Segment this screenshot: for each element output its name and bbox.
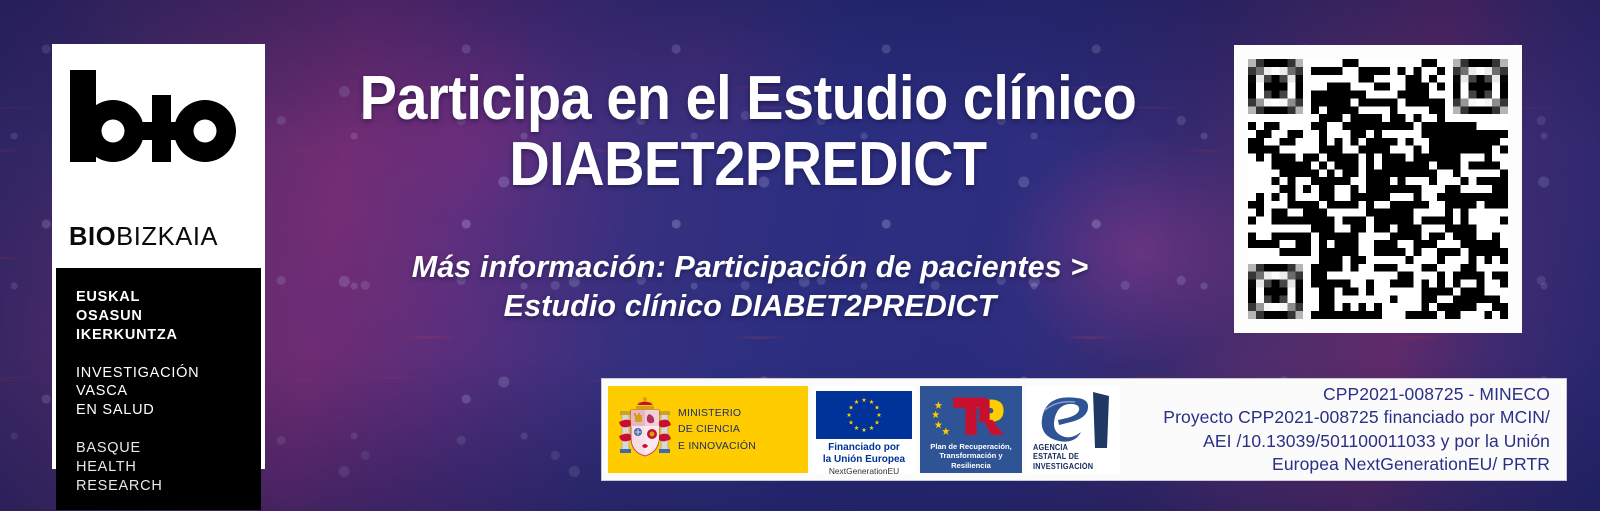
- prtr-caption-line-2: Transformación y: [930, 451, 1011, 460]
- logo-european-union-funding: Financiado por la Unión Europea NextGene…: [812, 386, 916, 473]
- funding-logos: MINISTERIO DE CIENCIA E INNOVACIÓN Finan…: [608, 386, 1120, 473]
- eu-caption-line-3: NextGenerationEU: [812, 466, 916, 477]
- tagline-english-line-1: BASQUE: [76, 439, 261, 458]
- tagline-basque-line-2: OSASUN: [76, 307, 261, 326]
- eu-flag-stars: [816, 391, 912, 439]
- logo-tagline-spanish: INVESTIGACIÓN VASCA EN SALUD: [76, 364, 261, 421]
- eu-caption-line-2: la Unión Europea: [812, 454, 916, 466]
- qr-code-icon[interactable]: [1248, 59, 1508, 319]
- tagline-basque-line-1: EUSKAL: [76, 288, 261, 307]
- tagline-basque-line-3: IKERKUNTZA: [76, 326, 261, 345]
- ministerio-line-2: DE CIENCIA: [678, 421, 756, 437]
- subheadline-line-1: Más información: Participación de pacien…: [300, 248, 1200, 287]
- aei-caption-line-1: AGENCIA: [1033, 443, 1093, 453]
- headline: Participa en el Estudio clínico DIABET2P…: [288, 66, 1208, 197]
- logo-plan-recuperacion: Plan de Recuperación, Transformación y R…: [920, 386, 1022, 473]
- spain-coat-of-arms-icon: [618, 396, 672, 464]
- aei-caption-line-2: ESTATAL DE: [1033, 452, 1093, 462]
- funding-text-line-2: Proyecto CPP2021-008725 financiado por M…: [1163, 406, 1550, 429]
- funding-text: CPP2021-008725 - MINECO Proyecto CPP2021…: [1120, 386, 1560, 473]
- funding-text-line-1: CPP2021-008725 - MINECO: [1323, 383, 1550, 406]
- tagline-spanish-line-3: EN SALUD: [76, 401, 261, 420]
- plan-recuperacion-tr-monogram-icon: [928, 392, 1014, 439]
- subheadline-line-2: Estudio clínico DIABET2PREDICT: [300, 287, 1200, 326]
- prtr-caption-line-3: Resiliencia: [930, 461, 1011, 470]
- tagline-spanish-line-1: INVESTIGACIÓN: [76, 364, 261, 383]
- ministerio-text: MINISTERIO DE CIENCIA E INNOVACIÓN: [678, 405, 756, 454]
- logo-wordmark-bizkaia: BIZKAIA: [116, 223, 218, 251]
- tagline-spanish-line-2: VASCA: [76, 382, 261, 401]
- logo-ministerio-ciencia-innovacion: MINISTERIO DE CIENCIA E INNOVACIÓN: [608, 386, 808, 473]
- subheadline: Más información: Participación de pacien…: [300, 248, 1200, 325]
- logo-wordmark: BIOBIZKAIA: [69, 223, 218, 252]
- promotional-banner: BIOBIZKAIA EUSKAL OSASUN IKERKUNTZA INVE…: [0, 0, 1600, 511]
- qr-code[interactable]: [1234, 45, 1522, 333]
- aei-caption-line-3: INVESTIGACIÓN: [1033, 462, 1093, 472]
- logo-agencia-estatal-investigacion: AGENCIA ESTATAL DE INVESTIGACIÓN: [1026, 386, 1120, 473]
- ministerio-line-1: MINISTERIO: [678, 405, 756, 421]
- ministerio-line-3: E INNOVACIÓN: [678, 438, 756, 454]
- tagline-english-line-3: RESEARCH: [76, 477, 261, 496]
- logo-tagline-english: BASQUE HEALTH RESEARCH: [76, 439, 261, 496]
- funding-strip: MINISTERIO DE CIENCIA E INNOVACIÓN Finan…: [601, 378, 1567, 481]
- biobizkaia-logo[interactable]: BIOBIZKAIA EUSKAL OSASUN IKERKUNTZA INVE…: [52, 44, 265, 469]
- tagline-english-line-2: HEALTH: [76, 458, 261, 477]
- logo-tagline-basque: EUSKAL OSASUN IKERKUNTZA: [76, 288, 261, 345]
- headline-line-1: Participa en el Estudio clínico: [334, 66, 1162, 132]
- eu-flag-icon: [816, 391, 912, 439]
- eu-caption: Financiado por la Unión Europea NextGene…: [812, 442, 916, 477]
- logo-top-white-panel: BIOBIZKAIA: [56, 48, 261, 268]
- funding-text-line-3: AEI /10.13039/501100011033 y por la Unió…: [1203, 430, 1550, 453]
- logo-wordmark-bio: BIO: [69, 223, 116, 251]
- headline-line-2: DIABET2PREDICT: [334, 132, 1162, 198]
- logo-tagline-panel: EUSKAL OSASUN IKERKUNTZA INVESTIGACIÓN V…: [56, 268, 261, 510]
- prtr-caption: Plan de Recuperación, Transformación y R…: [930, 442, 1011, 470]
- eu-caption-line-1: Financiado por: [812, 442, 916, 454]
- biobizkaia-b-plus-o-mark-icon: [68, 70, 250, 162]
- prtr-caption-line-1: Plan de Recuperación,: [930, 442, 1011, 451]
- funding-text-line-4: Europea NextGenerationEU/ PRTR: [1272, 453, 1550, 476]
- aei-caption: AGENCIA ESTATAL DE INVESTIGACIÓN: [1033, 443, 1097, 472]
